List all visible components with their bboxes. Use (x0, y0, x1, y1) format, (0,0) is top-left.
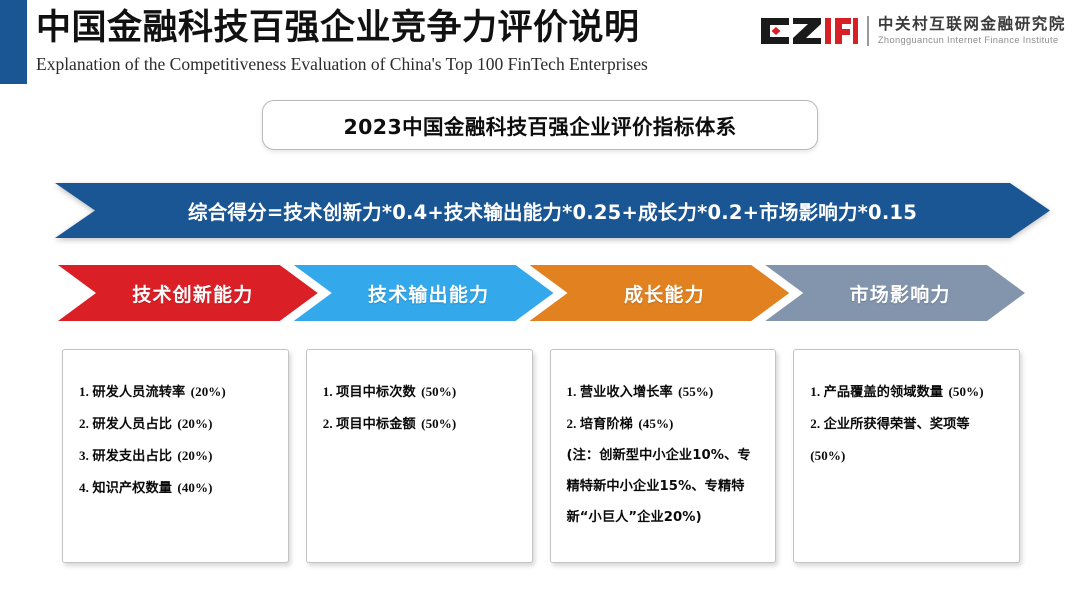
indicator-item-text: 产品覆盖的领域数量 (824, 385, 944, 400)
indicator-item: 2. 培育阶梯 (45%) (567, 408, 764, 440)
dimension-arrow: 成长能力 (530, 265, 790, 321)
indicator-item: 1. 营业收入增长率 (55%) (567, 376, 764, 408)
indicator-item: 1. 项目中标次数 (50%) (323, 376, 520, 408)
indicator-note: (注：创新型中小企业10%、专精特新中小企业15%、专精特新“小巨人”企业20%… (567, 440, 764, 533)
dimension-arrow-label: 成长能力 (624, 280, 705, 307)
indicator-item-number: 4. (79, 480, 92, 495)
dimension-arrow: 技术创新能力 (58, 265, 318, 321)
composite-score-banner: 综合得分=技术创新力*0.4+技术输出能力*0.25+成长力*0.2+市场影响力… (55, 183, 1050, 238)
indicator-card: 1. 研发人员流转率 (20%)2. 研发人员占比 (20%)3. 研发支出占比… (62, 349, 289, 563)
indicator-item-text: 培育阶梯 (580, 417, 633, 432)
dimension-arrow-label: 技术输出能力 (368, 280, 489, 307)
dimension-arrow-label: 市场影响力 (850, 280, 951, 307)
indicator-item-number: 2. (810, 416, 823, 431)
header-accent-bar (0, 0, 27, 84)
indicator-item-number: 2. (567, 416, 580, 431)
logo-name-cn: 中关村互联网金融研究院 (878, 15, 1066, 34)
indicator-item: 4. 知识产权数量 (40%) (79, 472, 276, 504)
indicator-item-number: 2. (323, 416, 336, 431)
indicator-item-weight: (50%) (416, 416, 457, 431)
dimension-arrow-row: 技术创新能力 技术输出能力 成长能力 市场影响力 (58, 265, 1025, 321)
indicator-item-text: 知识产权数量 (92, 481, 172, 496)
indicator-card: 1. 营业收入增长率 (55%)2. 培育阶梯 (45%)(注：创新型中小企业1… (550, 349, 777, 563)
indicator-system-title-box: 2023中国金融科技百强企业评价指标体系 (262, 100, 818, 150)
indicator-item-number: 1. (79, 384, 92, 399)
page-title-en: Explanation of the Competitiveness Evalu… (36, 51, 736, 77)
page-title-cn: 中国金融科技百强企业竞争力评价说明 (36, 6, 736, 50)
institute-logo: 中关村互联网金融研究院 Zhongguancun Internet Financ… (759, 10, 1066, 52)
logo-wordmark: 中关村互联网金融研究院 Zhongguancun Internet Financ… (878, 15, 1066, 47)
indicator-card: 1. 项目中标次数 (50%)2. 项目中标金额 (50%) (306, 349, 533, 563)
header-text-block: 中国金融科技百强企业竞争力评价说明 Explanation of the Com… (36, 6, 736, 77)
indicator-item-number: 3. (79, 448, 92, 463)
logo-divider (867, 16, 869, 46)
dimension-arrow: 技术输出能力 (294, 265, 554, 321)
indicator-item-number: 1. (810, 384, 823, 399)
indicator-item-weight: (20%) (172, 448, 213, 463)
indicator-item: 1. 研发人员流转率 (20%) (79, 376, 276, 408)
indicator-item-weight: (45%) (633, 416, 674, 431)
indicator-item: 2. 研发人员占比 (20%) (79, 408, 276, 440)
indicator-card: 1. 产品覆盖的领域数量 (50%)2. 企业所获得荣誉、奖项等 (50%) (793, 349, 1020, 563)
indicator-item: 3. 研发支出占比 (20%) (79, 440, 276, 472)
indicator-item-weight: (50%) (943, 384, 984, 399)
indicator-item-weight: (20%) (172, 416, 213, 431)
dimension-arrow: 市场影响力 (765, 265, 1025, 321)
indicator-item-weight: (55%) (673, 384, 714, 399)
indicator-item-text: 企业所获得荣誉、奖项等 (824, 417, 970, 432)
indicator-item: 2. 项目中标金额 (50%) (323, 408, 520, 440)
indicator-item: 2. 企业所获得荣誉、奖项等 (50%) (810, 408, 1007, 472)
dimension-arrow-label: 技术创新能力 (132, 280, 253, 307)
indicator-item-text: 营业收入增长率 (580, 385, 673, 400)
indicator-item-text: 研发人员流转率 (92, 385, 185, 400)
indicator-system-title: 2023中国金融科技百强企业评价指标体系 (343, 110, 736, 140)
indicator-item-number: 1. (323, 384, 336, 399)
composite-score-chevron: 综合得分=技术创新力*0.4+技术输出能力*0.25+成长力*0.2+市场影响力… (55, 183, 1050, 238)
indicator-item-number: 2. (79, 416, 92, 431)
indicator-item-number: 1. (567, 384, 580, 399)
indicator-item-text: 研发支出占比 (92, 449, 172, 464)
indicator-item-weight: (20%) (185, 384, 226, 399)
indicator-item: 1. 产品覆盖的领域数量 (50%) (810, 376, 1007, 408)
indicator-card-row: 1. 研发人员流转率 (20%)2. 研发人员占比 (20%)3. 研发支出占比… (62, 349, 1020, 563)
indicator-item-text: 研发人员占比 (92, 417, 172, 432)
logo-name-en: Zhongguancun Internet Finance Institute (878, 34, 1066, 47)
slide-canvas: 中国金融科技百强企业竞争力评价说明 Explanation of the Com… (0, 0, 1080, 608)
czifi-logomark-icon (759, 16, 859, 46)
indicator-item-weight: (50%) (416, 384, 457, 399)
indicator-item-text: 项目中标金额 (336, 417, 416, 432)
composite-score-formula: 综合得分=技术创新力*0.4+技术输出能力*0.25+成长力*0.2+市场影响力… (188, 196, 917, 225)
indicator-item-text: 项目中标次数 (336, 385, 416, 400)
indicator-item-weight: (40%) (172, 480, 213, 495)
